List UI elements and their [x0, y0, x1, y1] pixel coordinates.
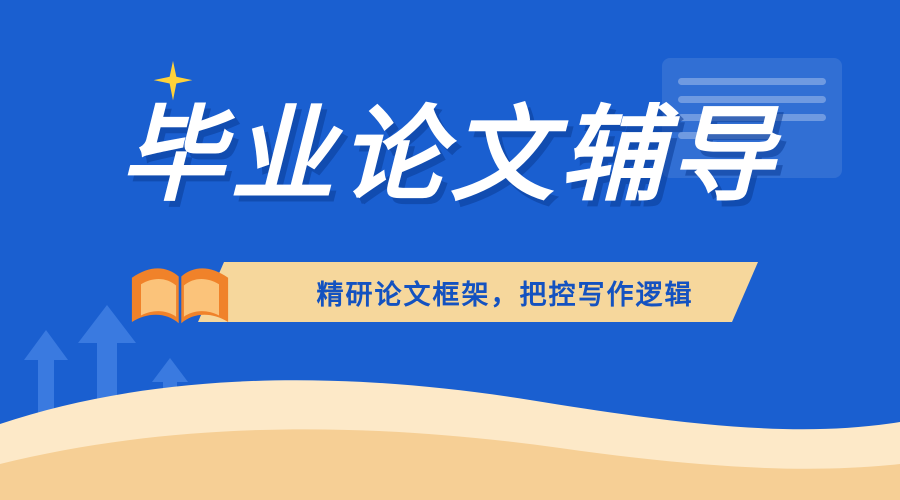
document-line [678, 78, 826, 85]
subtitle-text: 精研论文框架，把控写作逻辑 [198, 262, 758, 322]
star-icon [152, 60, 194, 102]
page-title: 毕业论文辅导 [0, 104, 900, 208]
wave-shape [0, 360, 900, 500]
open-book-icon [128, 258, 232, 330]
promo-banner: 毕业论文辅导 精研论文框架，把控写作逻辑 [0, 0, 900, 500]
